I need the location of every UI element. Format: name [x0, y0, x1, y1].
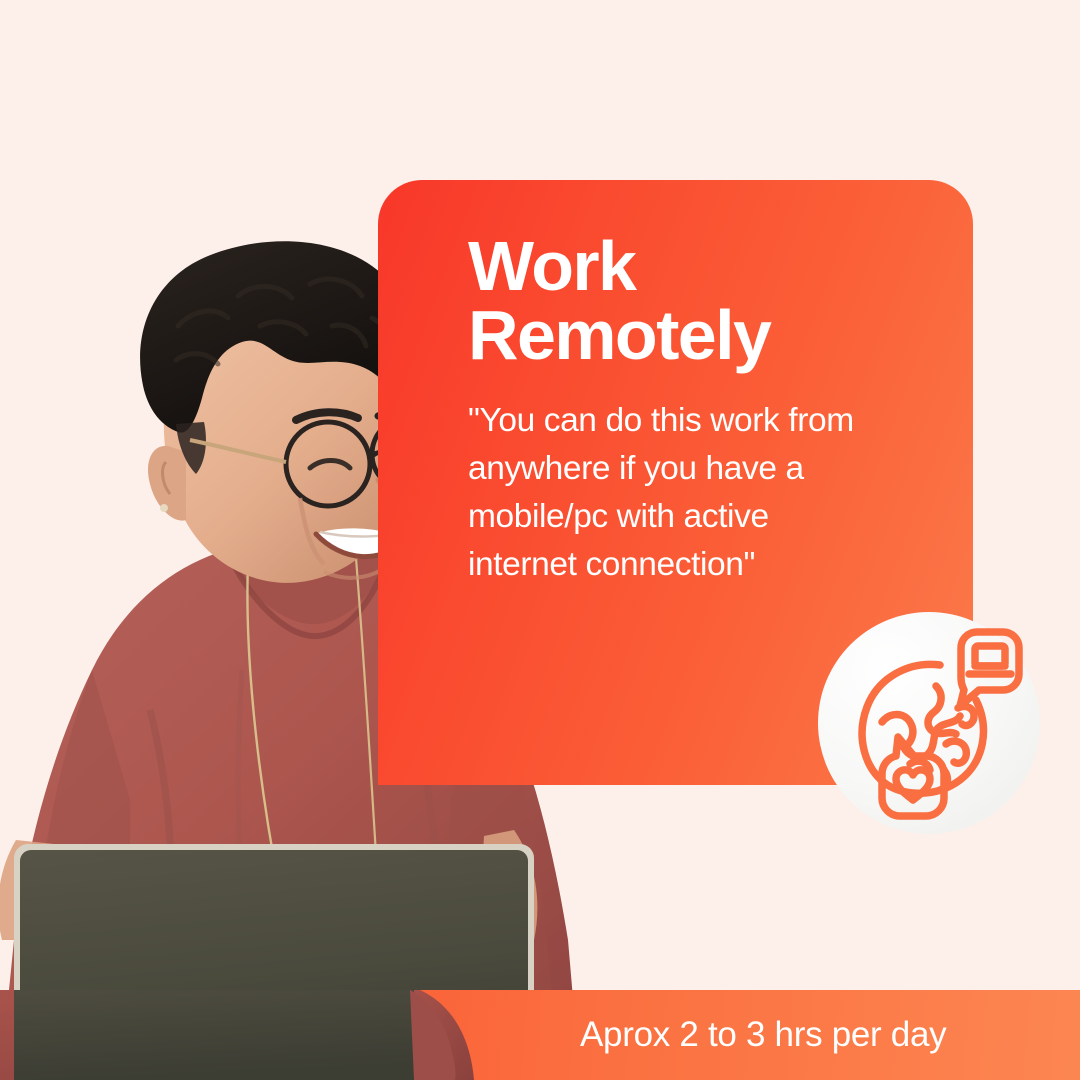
- laptop-bubble-icon: [960, 632, 1019, 706]
- banner-label: Aprox 2 to 3 hrs per day: [580, 1015, 946, 1055]
- globe-laptop-heart-icon: [818, 612, 1040, 834]
- card-subcopy: "You can do this work from anywhere if y…: [468, 397, 943, 589]
- globe-badge: [818, 612, 1040, 834]
- poster-canvas: Work Remotely "You can do this work from…: [0, 0, 1080, 1080]
- arm-over-banner: [0, 990, 560, 1080]
- page-title: Work Remotely: [468, 232, 943, 371]
